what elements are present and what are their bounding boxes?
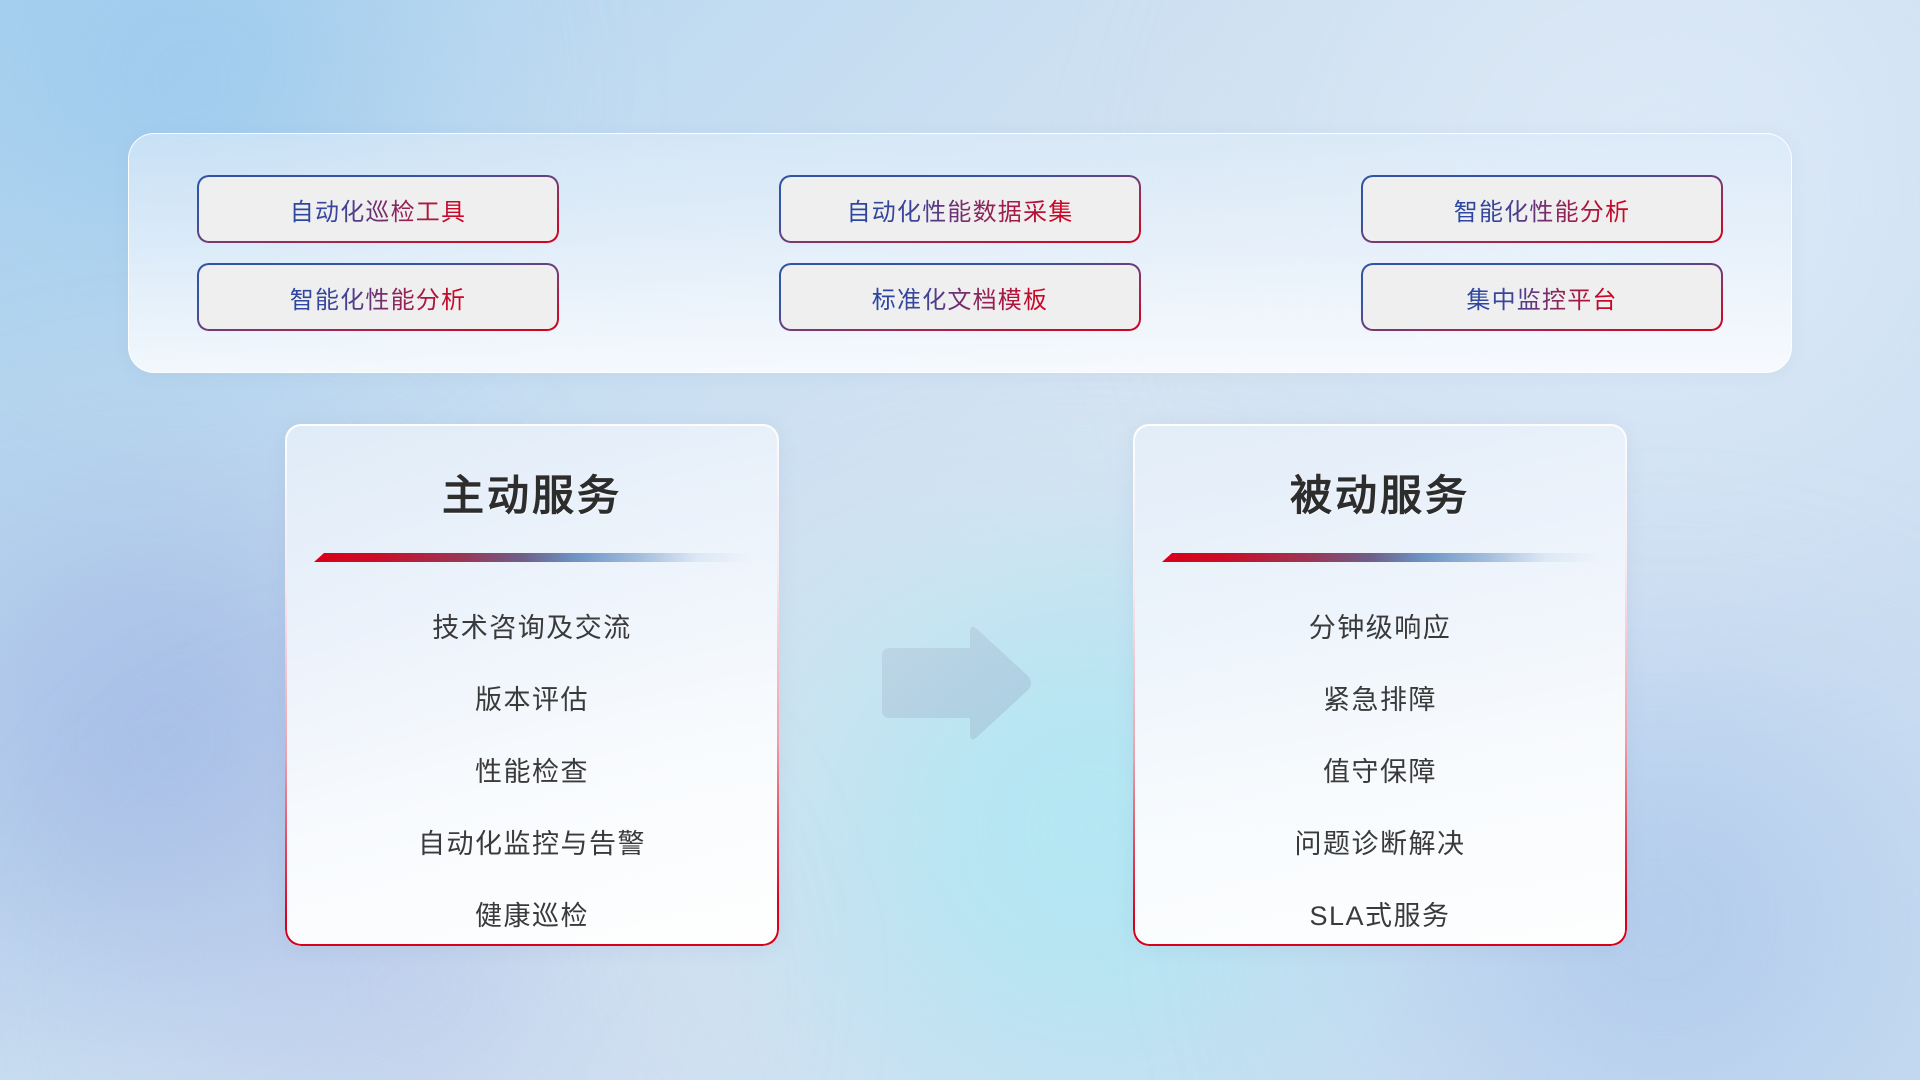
capability-pill[interactable]: 智能化性能分析 [1363, 177, 1721, 241]
capabilities-row-2: 智能化性能分析 标准化文档模板 集中监控平台 [199, 265, 1721, 329]
service-item: 自动化监控与告警 [285, 808, 779, 880]
diagram-stage: 自动化巡检工具 自动化性能数据采集 智能化性能分析 智能化性能分析 标准化文档模… [0, 0, 1920, 1080]
capabilities-panel: 自动化巡检工具 自动化性能数据采集 智能化性能分析 智能化性能分析 标准化文档模… [128, 133, 1792, 373]
service-item: 技术咨询及交流 [285, 592, 779, 664]
service-item: 版本评估 [285, 664, 779, 736]
arrow-right-icon [874, 622, 1034, 744]
capability-pill-label: 自动化性能数据采集 [847, 192, 1074, 227]
service-item-list: 技术咨询及交流 版本评估 性能检查 自动化监控与告警 健康巡检 [285, 592, 779, 946]
service-card-reactive: 被动服务 分钟级响应 紧急排障 值守保障 问题诊断解决 SLA式服务 [1133, 424, 1627, 946]
capability-pill-label: 集中监控平台 [1466, 280, 1617, 315]
card-title: 被动服务 [1133, 462, 1627, 523]
capability-pill[interactable]: 标准化文档模板 [781, 265, 1139, 329]
capability-pill-label: 自动化巡检工具 [290, 192, 466, 227]
service-item-list: 分钟级响应 紧急排障 值守保障 问题诊断解决 SLA式服务 [1133, 592, 1627, 946]
service-item: 性能检查 [285, 736, 779, 808]
service-item: 紧急排障 [1133, 664, 1627, 736]
capability-pill[interactable]: 自动化性能数据采集 [781, 177, 1139, 241]
card-divider [314, 553, 750, 562]
capabilities-row-1: 自动化巡检工具 自动化性能数据采集 智能化性能分析 [199, 177, 1721, 241]
service-item: 分钟级响应 [1133, 592, 1627, 664]
card-title: 主动服务 [285, 462, 779, 523]
capability-pill-label: 标准化文档模板 [872, 280, 1048, 315]
card-divider [1162, 553, 1598, 562]
capability-pill[interactable]: 集中监控平台 [1363, 265, 1721, 329]
capability-pill-label: 智能化性能分析 [290, 280, 466, 315]
service-card-proactive: 主动服务 技术咨询及交流 版本评估 性能检查 自动化监控与告警 健康巡检 [285, 424, 779, 946]
service-item: 值守保障 [1133, 736, 1627, 808]
service-item: 问题诊断解决 [1133, 808, 1627, 880]
service-item: SLA式服务 [1133, 880, 1627, 946]
capability-pill-label: 智能化性能分析 [1454, 192, 1630, 227]
capability-pill[interactable]: 自动化巡检工具 [199, 177, 557, 241]
service-item: 健康巡检 [285, 880, 779, 946]
capability-pill[interactable]: 智能化性能分析 [199, 265, 557, 329]
